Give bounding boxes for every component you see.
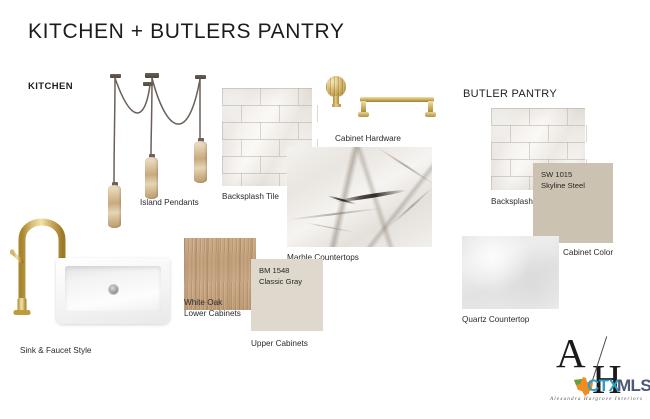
marble-wisp <box>303 222 356 234</box>
paint-chip-sw-1015: SW 1015 Skyline Steel <box>533 163 613 243</box>
paint-chip-sw-1015-code: SW 1015 <box>541 170 572 179</box>
ctxmls-suffix: MLS <box>617 376 650 396</box>
caption-quartz-countertop: Quartz Countertop <box>462 314 529 325</box>
caption-pantry-backsplash: Backsplash <box>491 196 533 207</box>
paint-chip-bm-1548-name: Classic Gray <box>259 277 302 286</box>
sink-drain <box>108 284 119 295</box>
caption-white-oak: White Oak Lower Cabinets <box>184 297 241 319</box>
caption-white-oak-line2: Lower Cabinets <box>184 309 241 318</box>
caption-upper-cabinets: Upper Cabinets <box>251 338 308 349</box>
marble-countertop-swatch <box>287 147 432 247</box>
paint-chip-sw-1015-label: SW 1015 Skyline Steel <box>541 170 585 192</box>
marble-wisp <box>376 147 432 186</box>
mood-board: KITCHEN + BUTLERS PANTRY KITCHEN BUTLER … <box>0 0 650 419</box>
paint-chip-sw-1015-name: Skyline Steel <box>541 181 585 190</box>
sink-basin <box>65 266 161 311</box>
caption-cabinet-color: Cabinet Color <box>563 247 613 258</box>
paint-chip-bm-1548-label: BM 1548 Classic Gray <box>259 266 302 288</box>
paint-chip-bm-1548: BM 1548 Classic Gray <box>251 259 323 331</box>
caption-sink-faucet: Sink & Faucet Style <box>20 345 91 356</box>
cabinet-hardware-image <box>318 76 438 128</box>
ctxmls-watermark: CTX MLS <box>573 376 650 400</box>
cabinet-pull-foot <box>425 112 436 117</box>
cabinet-pull-bar <box>360 97 434 102</box>
logo-monogram-a: A <box>556 333 586 374</box>
zone-label-kitchen: KITCHEN <box>28 81 73 92</box>
caption-white-oak-line1: White Oak <box>184 298 222 307</box>
pendant-shade <box>194 141 207 183</box>
caption-backsplash-tile: Backsplash Tile <box>222 191 279 202</box>
sink-faucet-image <box>10 198 170 333</box>
marble-wisp <box>287 207 383 221</box>
ctxmls-prefix: CTX <box>587 376 619 396</box>
cabinet-knob-icon <box>326 76 346 97</box>
cabinet-pull-foot <box>358 112 369 117</box>
cabinet-knob-base <box>332 104 341 107</box>
page-title: KITCHEN + BUTLERS PANTRY <box>28 20 344 44</box>
pendant-shade <box>145 157 158 199</box>
caption-cabinet-hardware: Cabinet Hardware <box>335 133 401 144</box>
quartz-countertop-swatch <box>462 236 559 309</box>
kitchen-sink-icon <box>56 258 170 324</box>
zone-label-butler-pantry: BUTLER PANTRY <box>463 88 557 100</box>
paint-chip-bm-1548-code: BM 1548 <box>259 266 289 275</box>
